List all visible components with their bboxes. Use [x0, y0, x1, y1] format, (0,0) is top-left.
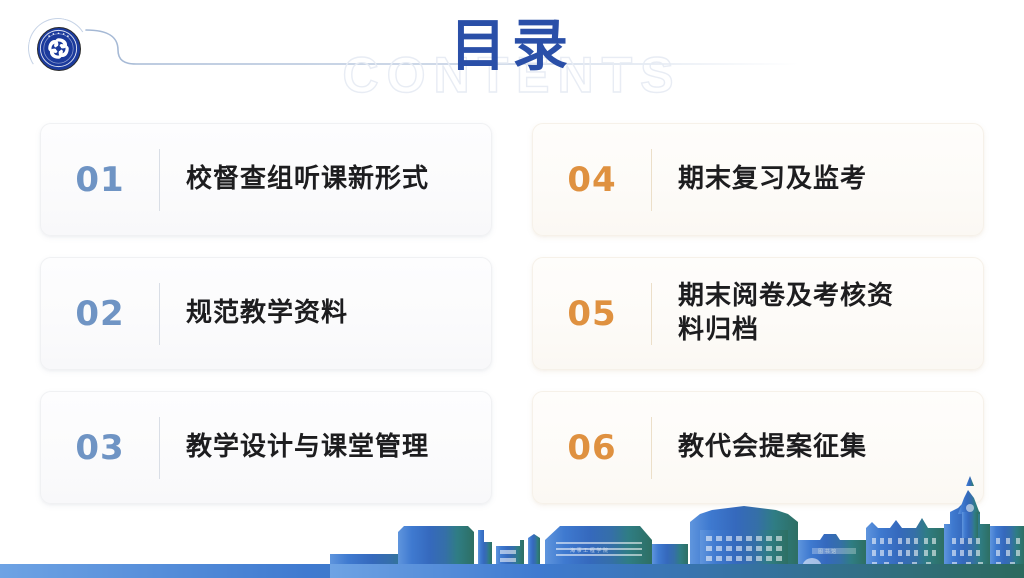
item-label: 期末复习及监考	[652, 163, 881, 196]
campus-skyline-silhouette: 海 事 工 程 学 院 图 书 馆	[0, 468, 1024, 578]
item-number: 02	[41, 294, 159, 334]
item-label: 期末阅卷及考核资料归档	[652, 280, 922, 347]
building-sign-left: 海 事 工 程 学 院	[570, 547, 608, 554]
contents-item-05[interactable]: 05 期末阅卷及考核资料归档	[532, 257, 984, 370]
item-label: 教学设计与课堂管理	[160, 431, 443, 464]
slide-header: 目录 CONTENTS	[0, 0, 1024, 118]
item-number: 01	[41, 160, 159, 200]
item-number: 05	[533, 294, 651, 334]
item-number: 03	[41, 428, 159, 468]
slide-root: 目录 CONTENTS 01 校督查组听课新形式 04 期末复习及监考 02 规…	[0, 0, 1024, 578]
item-number: 06	[533, 428, 651, 468]
contents-item-02[interactable]: 02 规范教学资料	[40, 257, 492, 370]
contents-item-01[interactable]: 01 校督查组听课新形式	[40, 123, 492, 236]
contents-item-04[interactable]: 04 期末复习及监考	[532, 123, 984, 236]
building-sign-right: 图 书 馆	[818, 548, 836, 555]
item-label: 教代会提案征集	[652, 431, 881, 464]
item-number: 04	[533, 160, 651, 200]
title-block: 目录	[0, 18, 1024, 74]
contents-grid: 01 校督查组听课新形式 04 期末复习及监考 02 规范教学资料 05 期末阅…	[40, 123, 984, 504]
item-label: 校督查组听课新形式	[160, 163, 443, 196]
item-label: 规范教学资料	[160, 297, 362, 330]
page-title: 目录	[0, 18, 1024, 74]
